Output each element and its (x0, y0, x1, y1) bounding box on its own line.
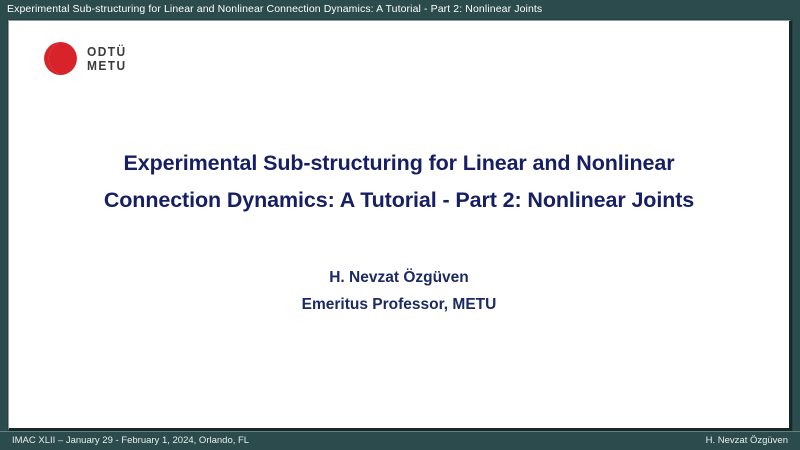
presentation-titlebar: Experimental Sub-structuring for Linear … (0, 0, 800, 19)
slide-title-line-2: Connection Dynamics: A Tutorial - Part 2… (9, 182, 789, 219)
metu-logo-wordmark: ODTÜ METU (87, 45, 130, 72)
presentation-viewer: Experimental Sub-structuring for Linear … (0, 0, 800, 450)
slide-author-block: H. Nevzat Özgüven Emeritus Professor, ME… (9, 264, 789, 318)
metu-logo-icon (43, 41, 78, 76)
slide-title: Experimental Sub-structuring for Linear … (9, 145, 789, 219)
metu-logo-word-metu: METU (87, 59, 127, 72)
presentation-title-text: Experimental Sub-structuring for Linear … (7, 4, 542, 15)
slide-canvas: ODTÜ METU Experimental Sub-structuring f… (9, 21, 789, 428)
slide-author-affiliation: Emeritus Professor, METU (9, 291, 789, 318)
footer-conference-info: IMAC XLII – January 29 - February 1, 202… (12, 436, 249, 446)
footer-author-name: H. Nevzat Özgüven (706, 436, 792, 446)
slide-author-name: H. Nevzat Özgüven (9, 264, 789, 291)
metu-logo-word-odtu: ODTÜ (87, 45, 127, 58)
slide-frame: ODTÜ METU Experimental Sub-structuring f… (8, 20, 792, 431)
metu-logo: ODTÜ METU (43, 41, 130, 76)
presentation-footer: IMAC XLII – January 29 - February 1, 202… (0, 431, 800, 450)
slide-title-line-1: Experimental Sub-structuring for Linear … (9, 145, 789, 182)
